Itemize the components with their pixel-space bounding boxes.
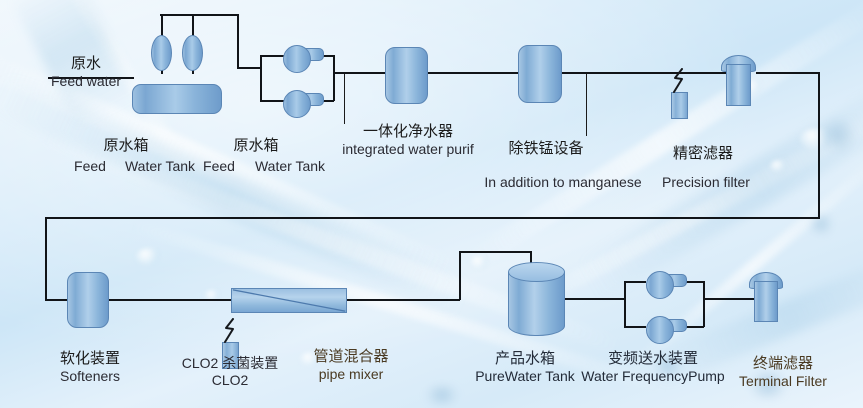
clo2-zigzag-icon [219, 318, 243, 344]
softener-vessel[interactable] [67, 272, 109, 328]
integrated-purifier[interactable] [385, 47, 428, 104]
label-feed-tank-2-en-left: Feed [203, 158, 235, 175]
pipe-booster-lower-inlet [624, 326, 646, 328]
label-feed-tank-2-feed: Feed [203, 158, 235, 175]
pipe-pumps-to-terminal-filter [703, 298, 757, 300]
label-softeners-en: Softeners [60, 368, 120, 385]
pipe-left-downcomer [45, 217, 47, 300]
label-feed-tank-1-en-right: Water Tank [125, 158, 195, 175]
feed-water-tank[interactable] [132, 84, 222, 114]
pipe-tank-inlet-riser [459, 251, 461, 300]
label-purewater-tank: 产品水箱 PureWater Tank [475, 350, 575, 384]
label-precision-filter-en: Precision filter [662, 174, 750, 191]
precision-filter[interactable] [726, 64, 751, 106]
booster-pump-upper[interactable] [646, 271, 674, 299]
pipe-header-downcomer [237, 14, 239, 68]
valve-left[interactable] [151, 35, 172, 71]
label-integrated-purifier: 一体化净水器 integrated water purif [342, 123, 474, 157]
label-precision-filter-cn: 精密滤器 [673, 145, 733, 163]
pipe-mixer-to-tank [347, 299, 460, 301]
pipe-mixer[interactable] [231, 288, 347, 313]
pipe-into-softener [45, 299, 67, 301]
booster-pump-lower[interactable] [646, 316, 674, 344]
background-shadow-blob [420, 386, 464, 404]
pipe-booster-discharge-manifold [703, 281, 705, 327]
label-precision-filter-cn-wrap: 精密滤器 [673, 145, 733, 163]
label-pipe-mixer: 管道混合器 pipe mixer [313, 348, 388, 382]
valve-right[interactable] [182, 35, 203, 71]
process-flow-diagram: 原水 Feed water 原水箱 Feed Water Tank 原水箱 Fe… [0, 0, 863, 408]
pipe-pump-discharge-manifold [333, 55, 335, 101]
label-manganese-cn: 除铁锰设备 [508, 140, 583, 158]
label-pipe-mixer-en: pipe mixer [313, 366, 388, 383]
label-integrated-purifier-en: integrated water purif [342, 141, 474, 158]
background-bubble [770, 160, 788, 172]
dosing-zigzag-icon [668, 68, 692, 94]
label-frequency-pump-en: Water FrequencyPump [581, 368, 724, 385]
label-clo2-cn: CLO2 杀菌装置 [182, 355, 278, 372]
pipe-purifier-to-manganese [428, 72, 518, 74]
label-terminal-filter-cn: 终端滤器 [739, 355, 827, 373]
label-precision-filter-en-wrap: Precision filter [662, 174, 750, 191]
label-manganese-en-wrap: In addition to manganese [484, 174, 641, 191]
leader-tick [586, 74, 587, 136]
label-integrated-purifier-cn: 一体化净水器 [342, 123, 474, 141]
pipe-pump-upper-inlet [260, 55, 284, 57]
label-clo2-en: CLO2 [182, 372, 278, 389]
pipe-tank-inlet-top [459, 251, 531, 253]
label-purewater-tank-cn: 产品水箱 [475, 350, 575, 368]
label-frequency-pump: 变频送水装置 Water FrequencyPump [581, 350, 724, 384]
label-terminal-filter: 终端滤器 Terminal Filter [739, 355, 827, 389]
label-feed-water: 原水 Feed water [51, 55, 121, 89]
label-feed-tank-1-en-left: Feed [74, 158, 106, 175]
mixer-diagonal-icon [232, 289, 346, 312]
pipe-right-downcomer [818, 72, 820, 218]
background-shadow-blob [818, 118, 858, 152]
label-feed-tank-2-en-right: Water Tank [255, 158, 325, 175]
pipe-booster-upper-inlet [624, 281, 646, 283]
label-pipe-mixer-cn: 管道混合器 [313, 348, 388, 366]
label-frequency-pump-cn: 变频送水装置 [581, 350, 724, 368]
label-feed-tank-1-water-tank: Water Tank [125, 158, 195, 175]
precision-dosing-box[interactable] [671, 92, 688, 119]
pipe-tank-to-pumps [565, 298, 593, 300]
pipe-pump-lower-inlet [260, 100, 284, 102]
label-softeners: 软化装置 Softeners [60, 350, 120, 384]
pipe-pumps-to-purifier [333, 72, 385, 74]
pipe-softener-to-mixer [99, 299, 231, 301]
feed-pump-upper[interactable] [283, 45, 311, 73]
label-feed-tank-2-water-tank: Water Tank [255, 158, 325, 175]
label-terminal-filter-en: Terminal Filter [739, 373, 827, 390]
pipe-filter-outlet [756, 72, 820, 74]
label-manganese-cn-wrap: 除铁锰设备 [508, 140, 583, 158]
terminal-filter[interactable] [754, 281, 778, 322]
label-feed-water-cn: 原水 [51, 55, 121, 73]
leader-tick [344, 74, 345, 124]
pipe-header-to-pumps [237, 67, 261, 69]
label-purewater-tank-en: PureWater Tank [475, 368, 575, 385]
pipe-booster-inlet-manifold [624, 281, 626, 327]
label-softeners-cn: 软化装置 [60, 350, 120, 368]
pipe-top-header [160, 14, 238, 16]
pipe-pump-inlet-manifold [260, 55, 262, 101]
label-feed-tank-1-cn: 原水箱 [103, 137, 148, 155]
pipe-bottom-return-header [45, 217, 820, 219]
pipe-tank-outlet-run [593, 298, 625, 300]
label-clo2: CLO2 杀菌装置 CLO2 [182, 355, 278, 388]
label-feed-tank-1-feed: Feed [74, 158, 106, 175]
background-bubble [470, 256, 490, 269]
label-manganese-en: In addition to manganese [484, 174, 641, 191]
feed-pump-lower[interactable] [283, 90, 311, 118]
manganese-removal-vessel[interactable] [518, 45, 562, 103]
background-bubble [136, 248, 162, 265]
label-feed-tank-2-cn-wrap: 原水箱 [233, 137, 278, 155]
label-feed-tank-1-cn-wrap: 原水箱 [103, 137, 148, 155]
label-feed-tank-2-cn: 原水箱 [233, 137, 278, 155]
label-feed-water-en: Feed water [51, 73, 121, 90]
purewater-tank-top [508, 262, 565, 282]
